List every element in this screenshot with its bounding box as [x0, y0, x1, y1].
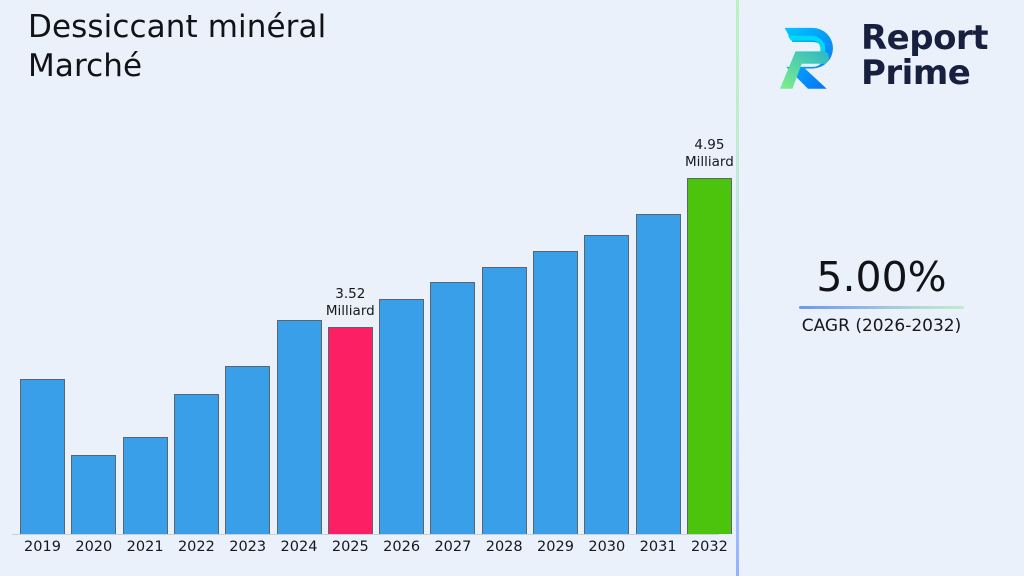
- x-tick-2020: 2020: [68, 538, 120, 557]
- cagr-value: 5.00%: [739, 252, 1024, 302]
- bar-2031: [636, 214, 681, 534]
- x-tick-2027: 2027: [427, 538, 479, 557]
- x-tick-2024: 2024: [273, 538, 325, 557]
- cagr-divider: [799, 306, 964, 309]
- x-tick-2021: 2021: [119, 538, 171, 557]
- bar-2020: [71, 455, 116, 534]
- bar-2029: [533, 251, 578, 534]
- bar-2030: [584, 235, 629, 534]
- bar-2032: [687, 178, 732, 534]
- bar-2028: [482, 267, 527, 534]
- x-tick-2030: 2030: [581, 538, 633, 557]
- bar-2021: [123, 437, 168, 534]
- chart-page: Dessiccant minéral Marché 3.52 Milliard4…: [0, 0, 1024, 576]
- x-tick-2031: 2031: [632, 538, 684, 557]
- chart-panel: Dessiccant minéral Marché 3.52 Milliard4…: [0, 0, 737, 576]
- bar-2023: [225, 366, 270, 534]
- branding-panel: Report Prime 5.00% CAGR (2026-2032): [739, 0, 1024, 576]
- cagr-block: 5.00% CAGR (2026-2032): [739, 252, 1024, 338]
- x-tick-2026: 2026: [376, 538, 428, 557]
- x-tick-2022: 2022: [170, 538, 222, 557]
- report-prime-logo: Report Prime: [769, 12, 1014, 100]
- cagr-caption: CAGR (2026-2032): [739, 315, 1024, 338]
- x-tick-2029: 2029: [530, 538, 582, 557]
- bar-2019: [20, 379, 65, 534]
- x-tick-2019: 2019: [17, 538, 69, 557]
- bar-chart-plot: 3.52 Milliard4.95 Milliard: [0, 0, 737, 576]
- x-tick-2032: 2032: [683, 538, 735, 557]
- x-tick-2023: 2023: [222, 538, 274, 557]
- bar-2026: [379, 299, 424, 534]
- report-prime-r-logo-icon: [769, 17, 847, 95]
- x-tick-2028: 2028: [478, 538, 530, 557]
- x-axis-line: [12, 534, 719, 535]
- bar-2022: [174, 394, 219, 534]
- bar-2027: [430, 282, 475, 534]
- bar-2025: [328, 327, 373, 534]
- report-prime-wordmark: Report Prime: [861, 21, 988, 91]
- x-tick-2025: 2025: [324, 538, 376, 557]
- bar-2024: [277, 320, 322, 534]
